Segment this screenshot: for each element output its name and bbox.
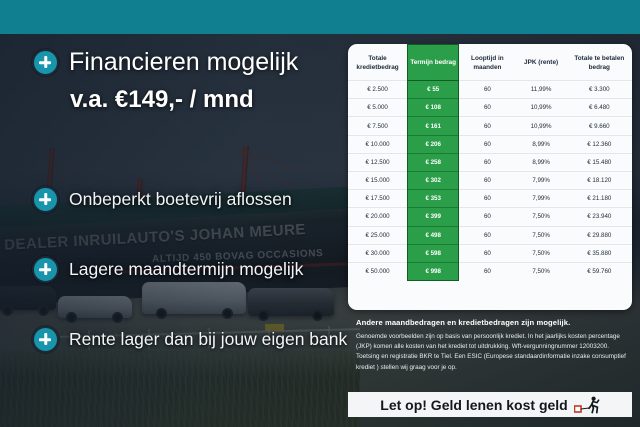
cell-termijn: € 161 bbox=[408, 117, 459, 135]
cell-termijn: € 206 bbox=[408, 135, 459, 153]
col-header-looptijd: Looptijd in maanden bbox=[459, 45, 516, 81]
cell-jkp: 7,99% bbox=[516, 172, 567, 190]
table-row: € 20.000€ 399607,50%€ 23.940 bbox=[348, 208, 632, 226]
cell-krediet: € 17.500 bbox=[348, 190, 408, 208]
subheadline-text: v.a. €149,- / mnd bbox=[70, 86, 254, 114]
cell-termijn: € 55 bbox=[408, 81, 459, 99]
cell-termijn: € 258 bbox=[408, 153, 459, 171]
cell-krediet: € 30.000 bbox=[348, 244, 408, 262]
benefit-item-1: Onbeperkt boetevrij aflossen bbox=[32, 186, 292, 213]
cell-termijn: € 353 bbox=[408, 190, 459, 208]
cell-totaal: € 3.300 bbox=[567, 81, 632, 99]
plus-circle-icon bbox=[32, 186, 59, 213]
table-row: € 15.000€ 302607,99%€ 18.120 bbox=[348, 172, 632, 190]
financing-promo-banner: DEALER INRUILAUTO'S JOHAN MEURE ALTIJD 4… bbox=[0, 0, 640, 427]
cell-looptijd: 60 bbox=[459, 153, 516, 171]
table-header-row: Totale kredietbedrag Termijn bedrag Loop… bbox=[348, 45, 632, 81]
table-row: € 25.000€ 498607,50%€ 29.880 bbox=[348, 226, 632, 244]
cell-jkp: 10,99% bbox=[516, 117, 567, 135]
cell-krediet: € 50.000 bbox=[348, 262, 408, 280]
table-row: € 17.500€ 353607,99%€ 21.180 bbox=[348, 190, 632, 208]
cell-krediet: € 20.000 bbox=[348, 208, 408, 226]
cell-looptijd: 60 bbox=[459, 262, 516, 280]
cell-looptijd: 60 bbox=[459, 244, 516, 262]
cell-looptijd: 60 bbox=[459, 172, 516, 190]
cell-jkp: 10,99% bbox=[516, 99, 567, 117]
col-header-termijn: Termijn bedrag bbox=[408, 45, 459, 81]
fineprint-body: Genoemde voorbeelden zijn op basis van p… bbox=[356, 332, 626, 373]
benefit-label: Lagere maandtermijn mogelijk bbox=[69, 259, 303, 280]
loan-warning-text: Let op! Geld lenen kost geld bbox=[380, 397, 567, 413]
benefit-label: Onbeperkt boetevrij aflossen bbox=[69, 189, 292, 210]
col-header-totaal: Totale te betalen bedrag bbox=[567, 45, 632, 81]
plus-circle-icon bbox=[32, 326, 59, 353]
cell-krediet: € 5.000 bbox=[348, 99, 408, 117]
plus-circle-icon bbox=[32, 256, 59, 283]
running-man-debt-icon bbox=[574, 396, 600, 414]
cell-looptijd: 60 bbox=[459, 135, 516, 153]
cell-totaal: € 15.480 bbox=[567, 153, 632, 171]
cell-totaal: € 18.120 bbox=[567, 172, 632, 190]
headline-text: Financieren mogelijk bbox=[69, 48, 298, 77]
fineprint-block: Andere maandbedragen en kredietbedragen … bbox=[356, 318, 626, 373]
cell-krediet: € 25.000 bbox=[348, 226, 408, 244]
loan-warning-bar: Let op! Geld lenen kost geld bbox=[348, 392, 632, 417]
cell-looptijd: 60 bbox=[459, 99, 516, 117]
cell-jkp: 8,99% bbox=[516, 135, 567, 153]
cell-jkp: 7,50% bbox=[516, 226, 567, 244]
cell-jkp: 8,99% bbox=[516, 153, 567, 171]
col-header-krediet: Totale kredietbedrag bbox=[348, 45, 408, 81]
benefit-label: Rente lager dan bij jouw eigen bank bbox=[69, 329, 347, 350]
header-bar bbox=[0, 0, 640, 34]
table-row: € 5.000€ 1086010,99%€ 6.480 bbox=[348, 99, 632, 117]
cell-termijn: € 399 bbox=[408, 208, 459, 226]
cell-looptijd: 60 bbox=[459, 226, 516, 244]
fineprint-title: Andere maandbedragen en kredietbedragen … bbox=[356, 318, 626, 327]
cell-termijn: € 598 bbox=[408, 244, 459, 262]
cell-krediet: € 15.000 bbox=[348, 172, 408, 190]
cell-totaal: € 35.880 bbox=[567, 244, 632, 262]
cell-jkp: 7,50% bbox=[516, 208, 567, 226]
benefits-column: Financieren mogelijk v.a. €149,- / mnd O… bbox=[0, 34, 350, 427]
rate-table-panel: Totale kredietbedrag Termijn bedrag Loop… bbox=[348, 44, 632, 310]
table-row: € 7.500€ 1616010,99%€ 9.660 bbox=[348, 117, 632, 135]
cell-looptijd: 60 bbox=[459, 190, 516, 208]
cell-krediet: € 7.500 bbox=[348, 117, 408, 135]
cell-totaal: € 23.940 bbox=[567, 208, 632, 226]
cell-looptijd: 60 bbox=[459, 208, 516, 226]
cell-krediet: € 12.500 bbox=[348, 153, 408, 171]
cell-termijn: € 302 bbox=[408, 172, 459, 190]
plus-circle-icon bbox=[32, 49, 59, 76]
cell-totaal: € 21.180 bbox=[567, 190, 632, 208]
table-row: € 2.500€ 556011,99%€ 3.300 bbox=[348, 81, 632, 99]
table-row: € 30.000€ 598607,50%€ 35.880 bbox=[348, 244, 632, 262]
cell-looptijd: 60 bbox=[459, 117, 516, 135]
cell-jkp: 11,99% bbox=[516, 81, 567, 99]
cell-totaal: € 9.660 bbox=[567, 117, 632, 135]
benefit-item-2: Lagere maandtermijn mogelijk bbox=[32, 256, 303, 283]
cell-jkp: 7,50% bbox=[516, 244, 567, 262]
cell-totaal: € 59.760 bbox=[567, 262, 632, 280]
cell-termijn: € 498 bbox=[408, 226, 459, 244]
cell-krediet: € 10.000 bbox=[348, 135, 408, 153]
cell-jkp: 7,99% bbox=[516, 190, 567, 208]
cell-jkp: 7,50% bbox=[516, 262, 567, 280]
cell-termijn: € 108 bbox=[408, 99, 459, 117]
cell-termijn: € 998 bbox=[408, 262, 459, 280]
headline-row: Financieren mogelijk bbox=[32, 48, 298, 77]
table-row: € 12.500€ 258608,99%€ 15.480 bbox=[348, 153, 632, 171]
table-row: € 10.000€ 206608,99%€ 12.360 bbox=[348, 135, 632, 153]
cell-totaal: € 6.480 bbox=[567, 99, 632, 117]
cell-totaal: € 12.360 bbox=[567, 135, 632, 153]
col-header-jkp: JPK (rente) bbox=[516, 45, 567, 81]
table-row: € 50.000€ 998607,50%€ 59.760 bbox=[348, 262, 632, 280]
cell-looptijd: 60 bbox=[459, 81, 516, 99]
cell-totaal: € 29.880 bbox=[567, 226, 632, 244]
benefit-item-3: Rente lager dan bij jouw eigen bank bbox=[32, 326, 347, 353]
cell-krediet: € 2.500 bbox=[348, 81, 408, 99]
rate-table: Totale kredietbedrag Termijn bedrag Loop… bbox=[348, 44, 632, 281]
